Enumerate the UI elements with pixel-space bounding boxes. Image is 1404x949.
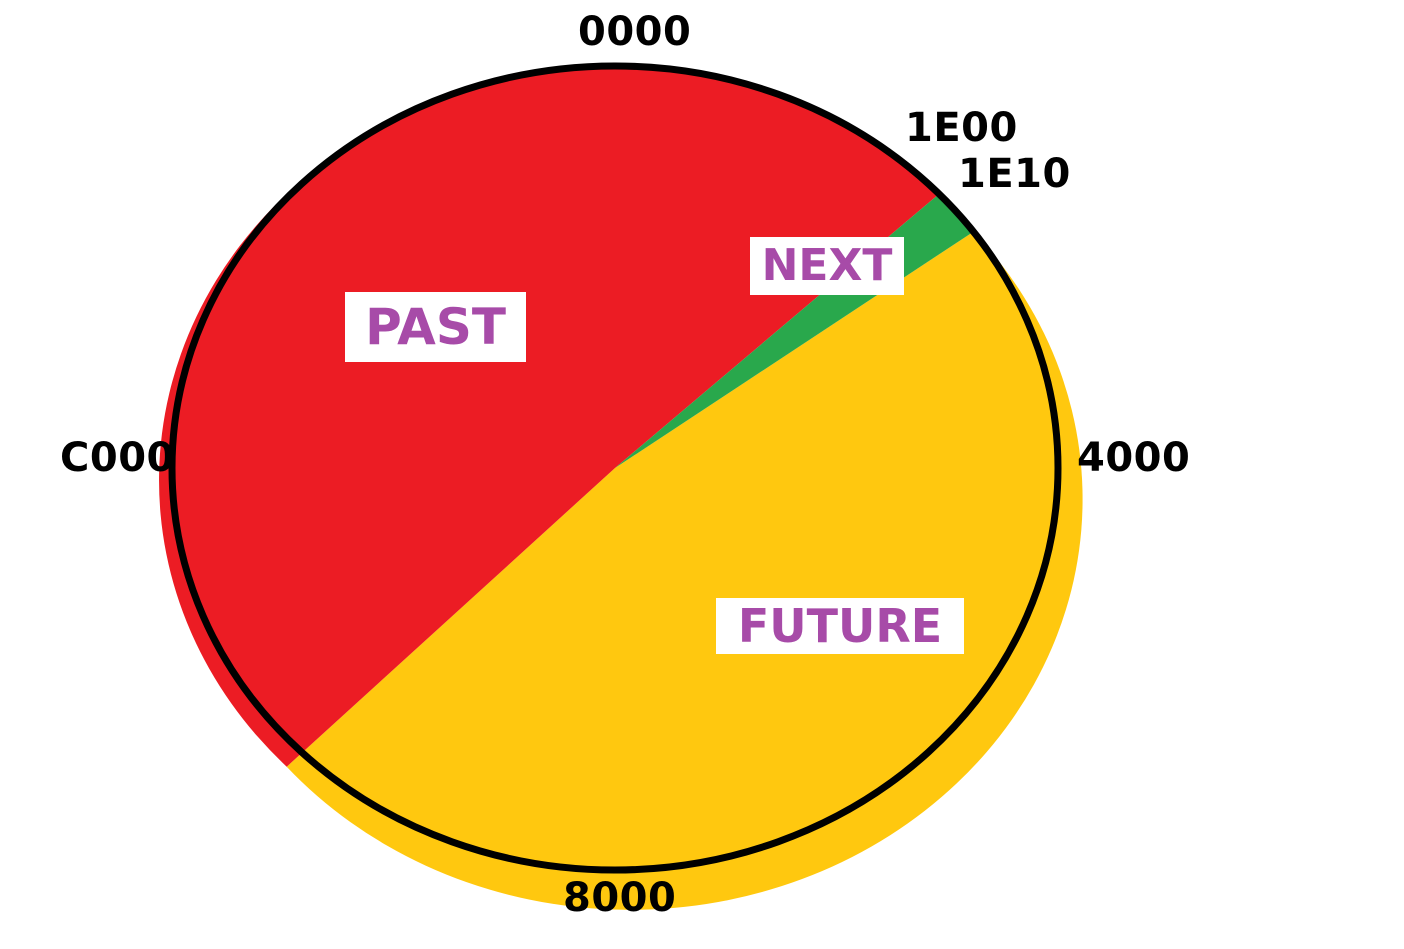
wedge-label-next: NEXT (750, 237, 904, 295)
tick-label-1e10: 1E10 (958, 154, 1071, 194)
tick-label-0000: 0000 (578, 12, 691, 52)
wedge-label-past: PAST (345, 292, 526, 362)
tick-label-8000: 8000 (563, 878, 676, 918)
wedge-label-future: FUTURE (716, 598, 964, 654)
tick-label-4000: 4000 (1077, 438, 1190, 478)
pie-chart-figure: 0000 1E00 1E10 4000 8000 C000 PAST NEXT … (0, 0, 1404, 949)
pie-chart-canvas (0, 0, 1404, 949)
tick-label-1e00: 1E00 (905, 108, 1018, 148)
tick-label-c000: C000 (60, 438, 175, 478)
